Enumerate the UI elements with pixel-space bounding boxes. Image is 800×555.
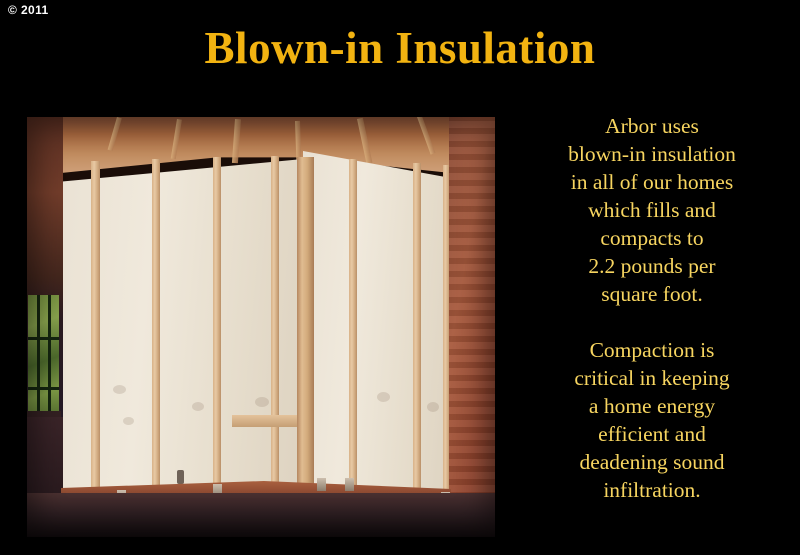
body-paragraph-2: Compaction is critical in keeping a home… [508,336,796,504]
bay-mark [377,392,390,402]
anchor-bolt [317,478,326,491]
copyright-notice: © 2011 [8,3,49,17]
bay-mark [255,397,269,407]
body-paragraph-1: Arbor uses blown-in insulation in all of… [508,112,796,308]
wall-stud [213,157,221,535]
brick-wall [449,117,495,537]
page-title: Blown-in Insulation [0,22,800,74]
corner-post [297,157,314,533]
bay-mark [113,385,126,394]
slide-canvas: © 2011 Blown-in Insulation [0,0,800,555]
bay-mark [123,417,134,425]
body-text-column: Arbor uses blown-in insulation in all of… [508,112,796,504]
wall-stud [91,161,100,537]
bay-mark [177,470,184,484]
anchor-bolt [345,478,354,491]
bay-mark [427,402,439,412]
bay-mark [192,402,204,411]
floor [27,493,495,537]
wall-stud [413,163,421,535]
insulation-photo [27,117,495,537]
wall-stud [152,159,160,537]
window [28,295,59,415]
wall-blocking [232,415,302,427]
photo-content [27,117,495,537]
wall-stud [271,156,279,534]
